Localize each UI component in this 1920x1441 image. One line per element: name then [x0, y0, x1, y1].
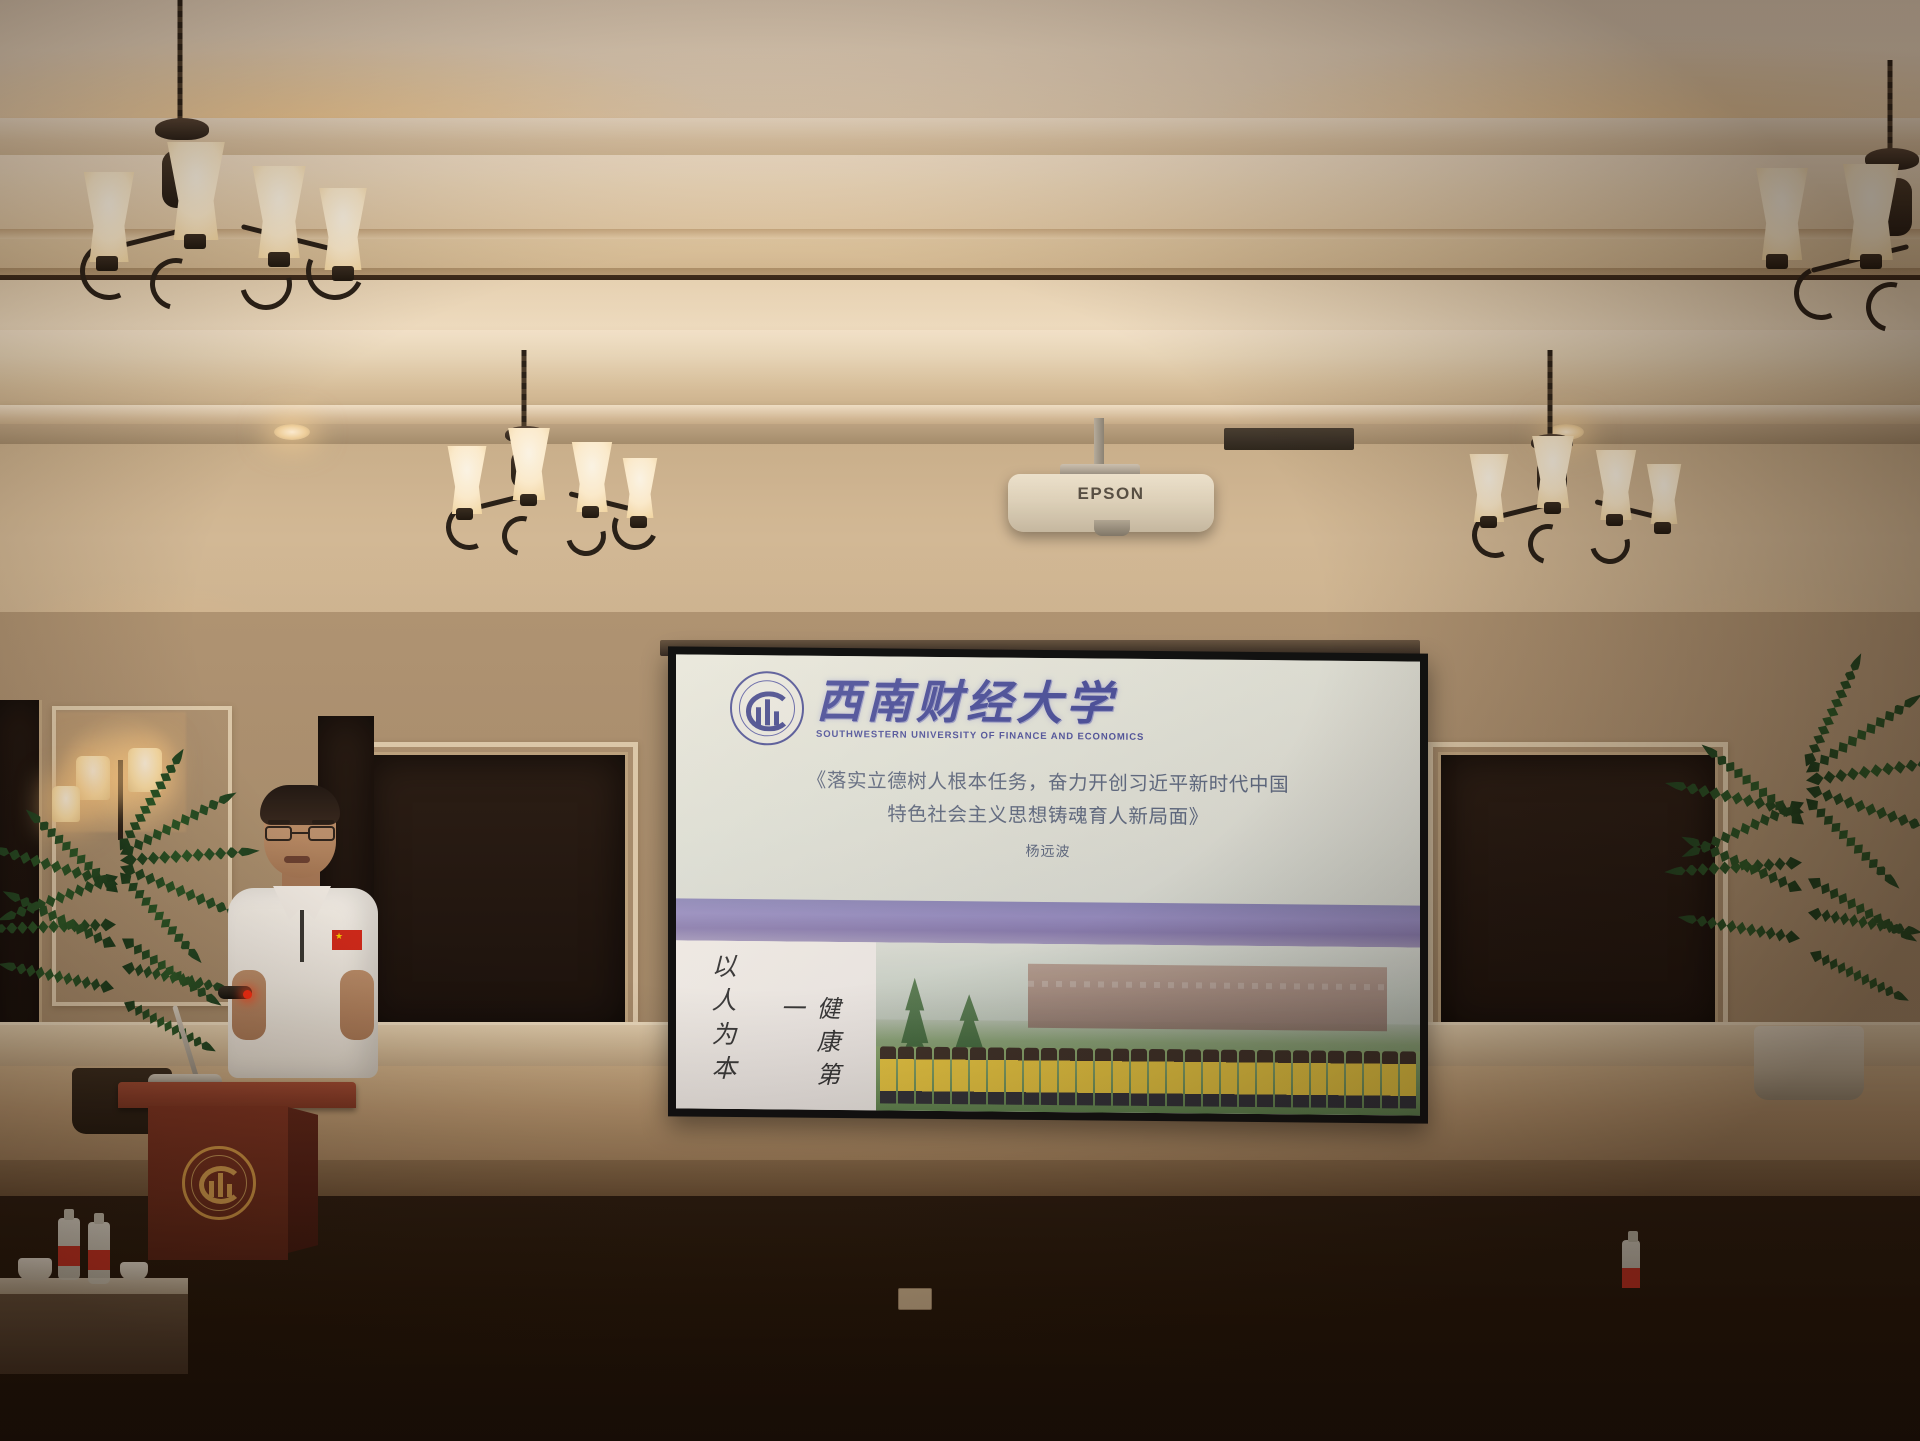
sconce-candle-icon: [76, 756, 110, 800]
ceiling-vent: [1224, 428, 1354, 450]
chandelier-icon: [1440, 350, 1660, 590]
slide-author: 杨远波: [676, 837, 1420, 864]
recessed-downlight-icon: [274, 424, 310, 440]
chandelier-icon: [70, 0, 380, 330]
wall-outlet-icon: [898, 1288, 932, 1310]
calligraphy-text-left: 健康第一: [772, 995, 844, 1110]
podium-desktop: [118, 1082, 356, 1108]
china-flag-pin-icon: [332, 930, 362, 950]
potted-palm-icon: [1686, 740, 1920, 1100]
speaker-shirt-placket: [300, 910, 304, 962]
tea-cup-icon: [120, 1262, 148, 1280]
speaker-mouth: [284, 856, 310, 863]
slide-accent-band: [676, 898, 1420, 947]
chandelier-icon: [1780, 60, 1920, 340]
university-emblem-icon: [182, 1146, 256, 1220]
speaker-arm-left: [232, 970, 266, 1040]
slide-photo: [876, 942, 1420, 1115]
slide-lower-section: 以人为本 健康第一: [676, 940, 1420, 1115]
university-emblem-icon: [730, 671, 804, 746]
speaker-arm-right: [340, 970, 374, 1040]
projector-lens-icon: [1094, 520, 1130, 536]
calligraphy-block: 以人为本 健康第一: [676, 940, 876, 1110]
university-name-en: SOUTHWESTERN UNIVERSITY OF FINANCE AND E…: [816, 729, 1144, 743]
speaker-figure: [228, 790, 378, 1120]
wall-panel-right: [1438, 752, 1718, 1032]
slide-upper-section: 西南财经大学 SOUTHWESTERN UNIVERSITY OF FINANC…: [676, 654, 1420, 907]
water-bottle-icon: [88, 1222, 110, 1284]
slide-title-line-2: 特色社会主义思想铸魂育人新局面》: [676, 795, 1420, 835]
presentation-scene: EPSON 西南财经大学 SOUTHWESTERN UNIVERSITY OF …: [0, 0, 1920, 1441]
front-table-skirt: [0, 1294, 188, 1374]
slide-title: 《落实立德树人根本任务，奋力开创习近平新时代中国 特色社会主义思想铸魂育人新局面…: [676, 762, 1420, 835]
water-bottle-icon: [1622, 1240, 1640, 1288]
projector-brand-label: EPSON: [1008, 484, 1214, 504]
plant-pot: [1754, 1026, 1864, 1100]
speaker-hair: [260, 785, 340, 825]
speaker-glasses-icon: [265, 826, 335, 842]
chandelier-icon: [440, 350, 660, 590]
university-name-zh: 西南财经大学: [816, 678, 1144, 727]
tea-cup-icon: [18, 1258, 52, 1280]
wall-panel-left: [362, 752, 628, 1032]
water-bottle-icon: [58, 1218, 80, 1280]
photo-crowd: [876, 1047, 1420, 1109]
calligraphy-text-right: 以人为本: [704, 953, 740, 1089]
podium-side-panel: [284, 1106, 318, 1254]
photo-building: [1028, 964, 1387, 1031]
projector-mount-pole: [1094, 418, 1104, 470]
projection-screen: 西南财经大学 SOUTHWESTERN UNIVERSITY OF FINANC…: [676, 654, 1420, 1115]
microphone-status-led: [243, 990, 252, 999]
university-logo-block: 西南财经大学 SOUTHWESTERN UNIVERSITY OF FINANC…: [730, 671, 1144, 749]
